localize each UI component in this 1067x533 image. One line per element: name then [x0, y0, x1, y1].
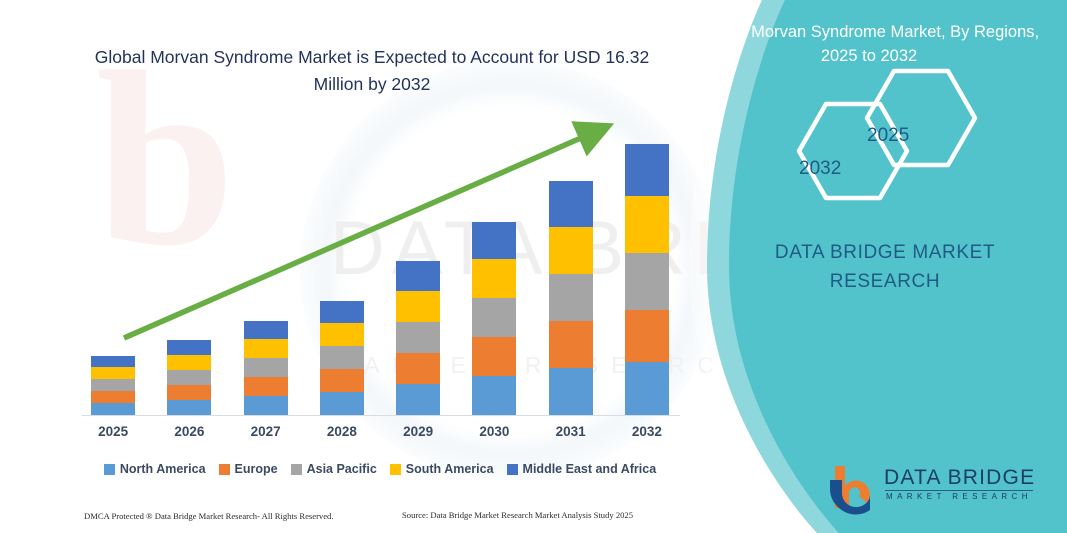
bar-segment [396, 322, 440, 353]
bar-segment [472, 298, 516, 337]
hexagon-2025-label: 2025 [867, 125, 909, 147]
bar-segment [320, 346, 364, 369]
stacked-bar [320, 301, 364, 415]
chart-legend: North AmericaEuropeAsia PacificSouth Ame… [75, 458, 685, 480]
x-axis-label-2030: 2030 [459, 424, 529, 446]
bar-segment [625, 253, 669, 310]
bar-segment [91, 391, 135, 403]
hexagon-2025 [867, 71, 975, 165]
legend-label: North America [120, 462, 206, 476]
hexagon-2032-label: 2032 [799, 158, 841, 180]
legend-label: South America [406, 462, 494, 476]
bar-segment [91, 379, 135, 391]
bar-segment [396, 353, 440, 384]
bar-column-2026 [154, 120, 224, 415]
panel-brand-line: DATA BRIDGE MARKET RESEARCH [727, 238, 1043, 296]
bar-segment [244, 358, 288, 377]
bar-segment [244, 321, 288, 339]
infographic-page: b DATA BRIDGE MARKET RESEARCH Global Mor… [0, 0, 1067, 533]
legend-label: Europe [235, 462, 278, 476]
stacked-bar [167, 340, 211, 415]
bar-segment [167, 340, 211, 355]
bar-segment [625, 362, 669, 415]
legend-swatch-icon [507, 464, 518, 475]
bar-segment [625, 144, 669, 196]
legend-label: Asia Pacific [307, 462, 377, 476]
stacked-bar [396, 261, 440, 415]
legend-swatch-icon [291, 464, 302, 475]
stacked-bar [91, 356, 135, 415]
legend-item-middle-east-and-africa[interactable]: Middle East and Africa [507, 462, 657, 476]
bar-segment [549, 368, 593, 415]
bar-segment [320, 369, 364, 392]
footer-copyright: DMCA Protected ® Data Bridge Market Rese… [84, 511, 334, 521]
bar-column-2030 [459, 120, 529, 415]
bar-segment [396, 291, 440, 322]
bar-segment [167, 400, 211, 415]
bar-segment [167, 370, 211, 385]
stacked-bar [625, 144, 669, 415]
legend-item-south-america[interactable]: South America [390, 462, 494, 476]
bar-segment [320, 323, 364, 346]
x-axis-label-2027: 2027 [231, 424, 301, 446]
bar-chart-plot [75, 120, 685, 415]
legend-swatch-icon [219, 464, 230, 475]
bar-segment [625, 310, 669, 362]
legend-item-north-america[interactable]: North America [104, 462, 206, 476]
x-axis-label-2031: 2031 [536, 424, 606, 446]
stacked-bar [549, 181, 593, 415]
bar-segment [549, 274, 593, 321]
bar-segment [244, 377, 288, 396]
legend-item-asia-pacific[interactable]: Asia Pacific [291, 462, 377, 476]
bar-segment [244, 396, 288, 415]
bar-segment [91, 367, 135, 379]
bar-segment [320, 392, 364, 415]
bar-segment [91, 403, 135, 415]
bar-segment [625, 196, 669, 253]
bar-column-2025 [78, 120, 148, 415]
bar-segment [320, 301, 364, 323]
data-bridge-logo: DATA BRIDGE MARKET RESEARCH [822, 462, 1052, 520]
bar-segment [91, 356, 135, 367]
bar-column-2029 [383, 120, 453, 415]
hexagon-2032 [799, 104, 907, 198]
chart-title: Global Morvan Syndrome Market is Expecte… [72, 44, 672, 98]
bar-column-2028 [307, 120, 377, 415]
bar-segment [472, 376, 516, 415]
bar-segment [167, 355, 211, 370]
legend-swatch-icon [104, 464, 115, 475]
hexagon-group [689, 18, 1049, 208]
logo-name: DATA BRIDGE [884, 466, 1035, 490]
logo-tagline: MARKET RESEARCH [886, 492, 1032, 501]
footer-source: Source: Data Bridge Market Research Mark… [402, 510, 633, 520]
right-teal-panel: Global Morvan Syndrome Market, By Region… [667, 0, 1067, 533]
bar-segment [396, 261, 440, 291]
legend-swatch-icon [390, 464, 401, 475]
x-axis-label-2029: 2029 [383, 424, 453, 446]
x-axis-label-2028: 2028 [307, 424, 377, 446]
x-axis-label-2025: 2025 [78, 424, 148, 446]
bar-segment [167, 385, 211, 400]
x-axis-label-2026: 2026 [154, 424, 224, 446]
bar-column-2027 [231, 120, 301, 415]
logo-divider [885, 490, 1033, 491]
x-axis-line [82, 415, 680, 416]
bar-segment [549, 227, 593, 274]
bar-segment [396, 384, 440, 415]
x-axis-labels: 20252026202720282029203020312032 [75, 424, 685, 446]
bar-segment [472, 259, 516, 298]
bar-segment [549, 181, 593, 227]
stacked-bar [472, 222, 516, 415]
bar-segment [472, 222, 516, 259]
bar-segment [549, 321, 593, 368]
legend-label: Middle East and Africa [523, 462, 657, 476]
data-bridge-logo-icon [822, 462, 882, 518]
bar-column-2031 [536, 120, 606, 415]
bar-segment [472, 337, 516, 376]
stacked-bar [244, 321, 288, 415]
legend-item-europe[interactable]: Europe [219, 462, 278, 476]
bar-segment [244, 339, 288, 358]
